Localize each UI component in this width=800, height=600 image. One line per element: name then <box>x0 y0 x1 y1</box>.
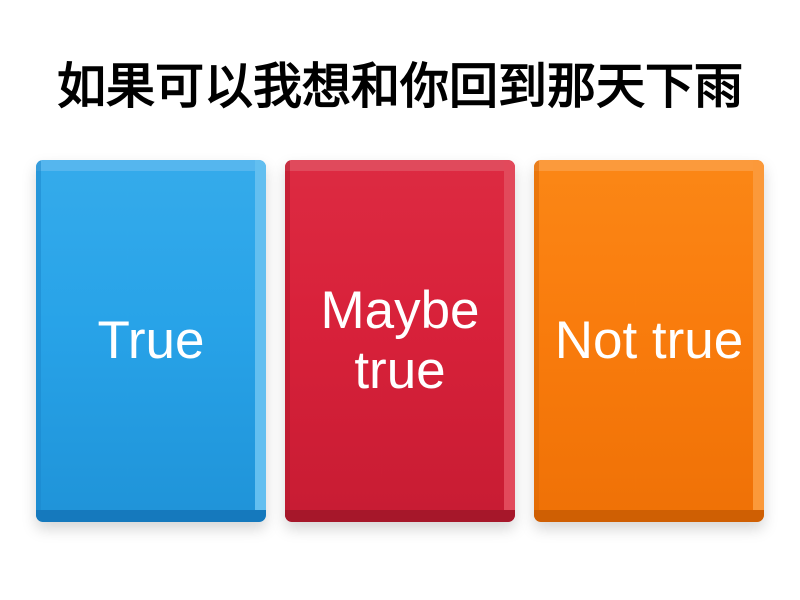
question-text: 如果可以我想和你回到那天下雨 <box>57 59 743 115</box>
answer-label-1: True <box>36 311 266 371</box>
answer-card-3[interactable]: Not true <box>534 160 764 522</box>
card-bevel-top <box>285 160 515 171</box>
quiz-screen: 如果可以我想和你回到那天下雨 True Maybe true Not true <box>0 0 800 600</box>
answer-label-2: Maybe true <box>285 281 515 401</box>
card-bevel-top <box>534 160 764 171</box>
card-bevel-bottom <box>36 510 266 522</box>
card-bevel-bottom <box>285 510 515 522</box>
answer-card-2[interactable]: Maybe true <box>285 160 515 522</box>
answer-label-3: Not true <box>534 311 764 371</box>
answer-card-1[interactable]: True <box>36 160 266 522</box>
answer-options-row: True Maybe true Not true <box>36 160 764 530</box>
card-bevel-top <box>36 160 266 171</box>
card-bevel-bottom <box>534 510 764 522</box>
question-area: 如果可以我想和你回到那天下雨 <box>0 48 800 126</box>
